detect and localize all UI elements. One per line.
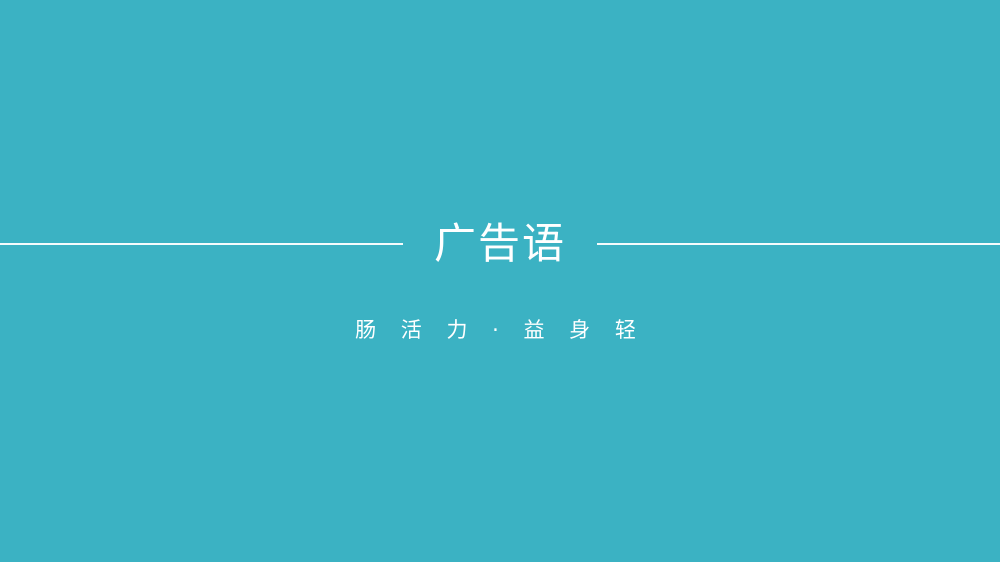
slide-subtitle: 肠 活 力 · 益 身 轻 [355, 318, 645, 343]
slide-canvas: 广告语 肠 活 力 · 益 身 轻 [0, 0, 1000, 562]
title-rule-right [597, 243, 1000, 245]
title-rule-left [0, 243, 403, 245]
page-title: 广告语 [403, 223, 597, 265]
title-band: 广告语 [0, 206, 1000, 282]
subtitle-container: 肠 活 力 · 益 身 轻 [0, 318, 1000, 343]
